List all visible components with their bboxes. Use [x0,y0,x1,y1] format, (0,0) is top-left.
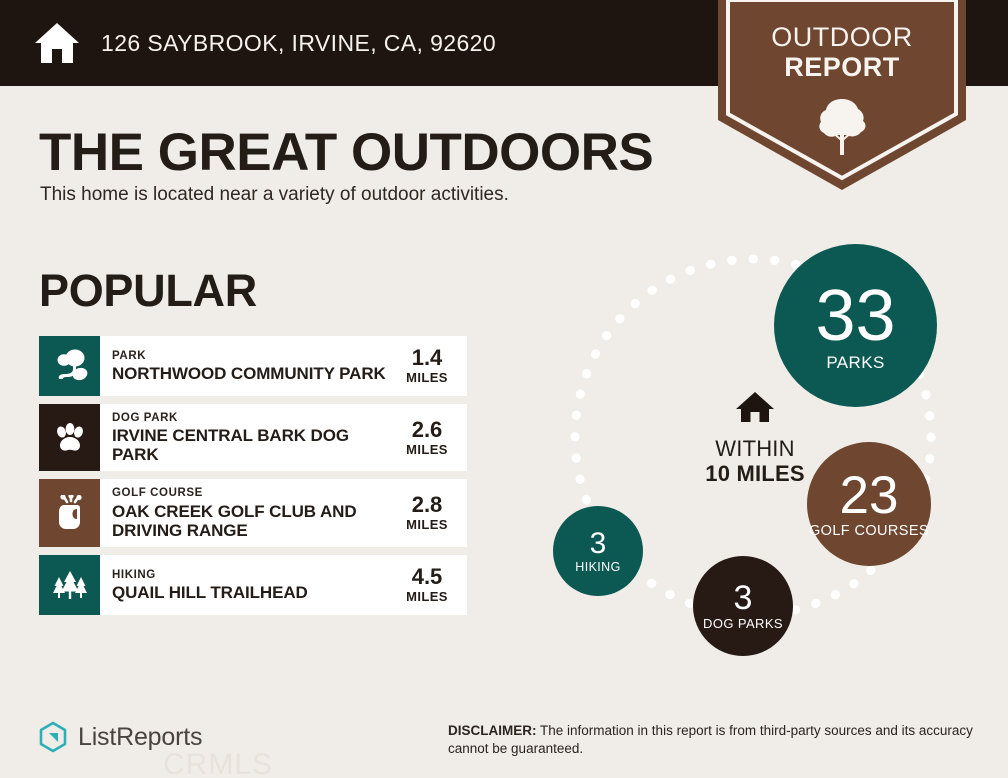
list-item-distance: 2.6 MILES [395,419,467,457]
list-item-name: QUAIL HILL TRAILHEAD [112,583,395,602]
distance-value: 1.4 [395,347,459,369]
list-item[interactable]: GOLF COURSE OAK CREEK GOLF CLUB AND DRIV… [39,479,467,546]
bubble-hiking[interactable]: 3 HIKING [553,506,643,596]
list-item[interactable]: DOG PARK IRVINE CENTRAL BARK DOG PARK 2.… [39,404,467,471]
bubble-label: DOG PARKS [703,617,783,631]
distance-unit: MILES [395,589,459,604]
list-item-distance: 4.5 MILES [395,566,467,604]
popular-list: PARK NORTHWOOD COMMUNITY PARK 1.4 MILES … [39,336,467,623]
list-item-category: PARK [112,349,395,363]
disclaimer-label: DISCLAIMER: [448,723,537,738]
pine-trees-icon [39,555,100,615]
list-item-distance: 2.8 MILES [395,494,467,532]
list-item[interactable]: HIKING QUAIL HILL TRAILHEAD 4.5 MILES [39,555,467,615]
bubble-parks[interactable]: 33 PARKS [774,244,937,407]
list-item-name: OAK CREEK GOLF CLUB AND DRIVING RANGE [112,502,395,540]
within-10-miles-bubble-chart: 33 PARKS 23 GOLF COURSES 3 DOG PARKS 3 H… [520,225,990,665]
list-item-distance: 1.4 MILES [395,347,467,385]
bubble-dog-parks[interactable]: 3 DOG PARKS [693,556,793,656]
list-item-category: DOG PARK [112,411,395,425]
bubble-value: 3 [590,529,607,559]
home-icon [735,390,775,424]
bubble-value: 23 [840,469,899,522]
bubble-label: HIKING [575,561,620,574]
badge-line-2: REPORT [718,54,966,81]
distance-unit: MILES [395,370,459,385]
listreports-house-logo [38,721,68,753]
popular-heading: POPULAR [39,265,257,317]
list-item-name: IRVINE CENTRAL BARK DOG PARK [112,426,395,464]
list-item[interactable]: PARK NORTHWOOD COMMUNITY PARK 1.4 MILES [39,336,467,396]
diagram-center-label: WITHIN 10 MILES [670,390,840,486]
park-trees-icon [39,336,100,396]
distance-unit: MILES [395,442,459,457]
bubble-label: PARKS [826,354,884,371]
golf-bag-icon [39,479,100,546]
center-line-2: 10 MILES [670,462,840,487]
home-icon [33,19,81,67]
badge-line-1: OUTDOOR [718,24,966,51]
distance-value: 2.8 [395,494,459,516]
list-item-category: HIKING [112,568,395,582]
list-item-name: NORTHWOOD COMMUNITY PARK [112,364,395,383]
badge-title: OUTDOOR REPORT [718,24,966,81]
distance-value: 4.5 [395,566,459,588]
center-line-1: WITHIN [670,437,840,462]
page-subtitle: This home is located near a variety of o… [40,184,509,206]
listreports-brand-text: ListReports [78,723,202,752]
paw-print-icon [39,404,100,471]
listreports-logo[interactable]: ListReports [38,721,202,753]
bubble-label: GOLF COURSES [809,524,929,540]
list-item-category: GOLF COURSE [112,486,395,500]
disclaimer: DISCLAIMER: The information in this repo… [448,722,988,758]
tree-icon [815,97,869,157]
bubble-value: 3 [734,581,753,615]
page-title: THE GREAT OUTDOORS [39,122,653,183]
distance-unit: MILES [395,517,459,532]
bubble-value: 33 [815,280,895,352]
distance-value: 2.6 [395,419,459,441]
property-address: 126 SAYBROOK, IRVINE, CA, 92620 [101,30,496,57]
outdoor-report-badge: OUTDOOR REPORT [718,0,966,190]
